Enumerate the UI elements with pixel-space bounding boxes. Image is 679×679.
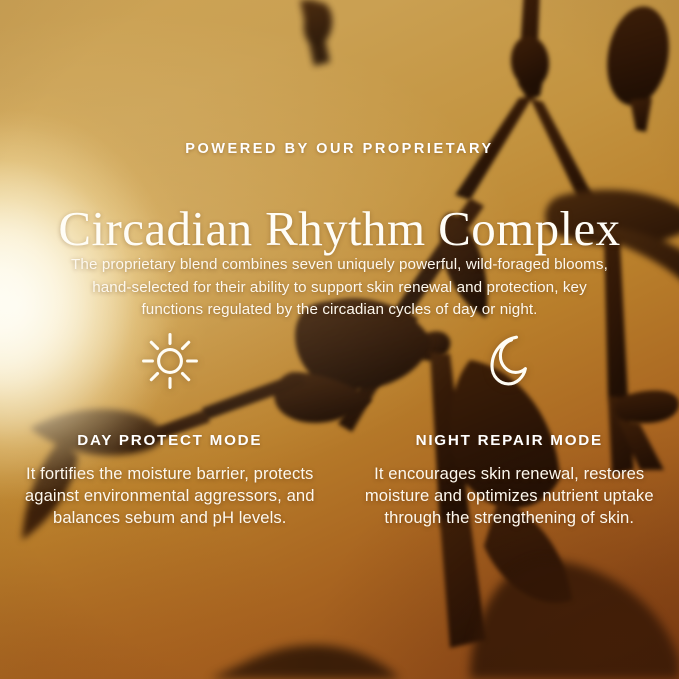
mode-title-night: NIGHT REPAIR MODE xyxy=(416,432,603,449)
moon-icon xyxy=(482,330,536,392)
intro-paragraph: The proprietary blend combines seven uni… xyxy=(60,254,620,321)
page-title: Circadian Rhythm Complex xyxy=(0,203,679,255)
content-overlay: POWERED BY OUR PROPRIETARY Circadian Rhy… xyxy=(0,0,679,679)
mode-title-day: DAY PROTECT MODE xyxy=(77,432,262,449)
eyebrow-text: POWERED BY OUR PROPRIETARY xyxy=(0,141,679,157)
marketing-hero-panel: POWERED BY OUR PROPRIETARY Circadian Rhy… xyxy=(0,0,679,679)
mode-column-night: NIGHT REPAIR MODE It encourages skin ren… xyxy=(340,330,679,529)
sun-icon xyxy=(141,330,199,392)
mode-columns: DAY PROTECT MODE It fortifies the moistu… xyxy=(0,330,679,529)
mode-column-day: DAY PROTECT MODE It fortifies the moistu… xyxy=(0,330,340,529)
mode-body-night: It encourages skin renewal, restores moi… xyxy=(359,463,659,529)
mode-body-day: It fortifies the moisture barrier, prote… xyxy=(20,463,320,529)
